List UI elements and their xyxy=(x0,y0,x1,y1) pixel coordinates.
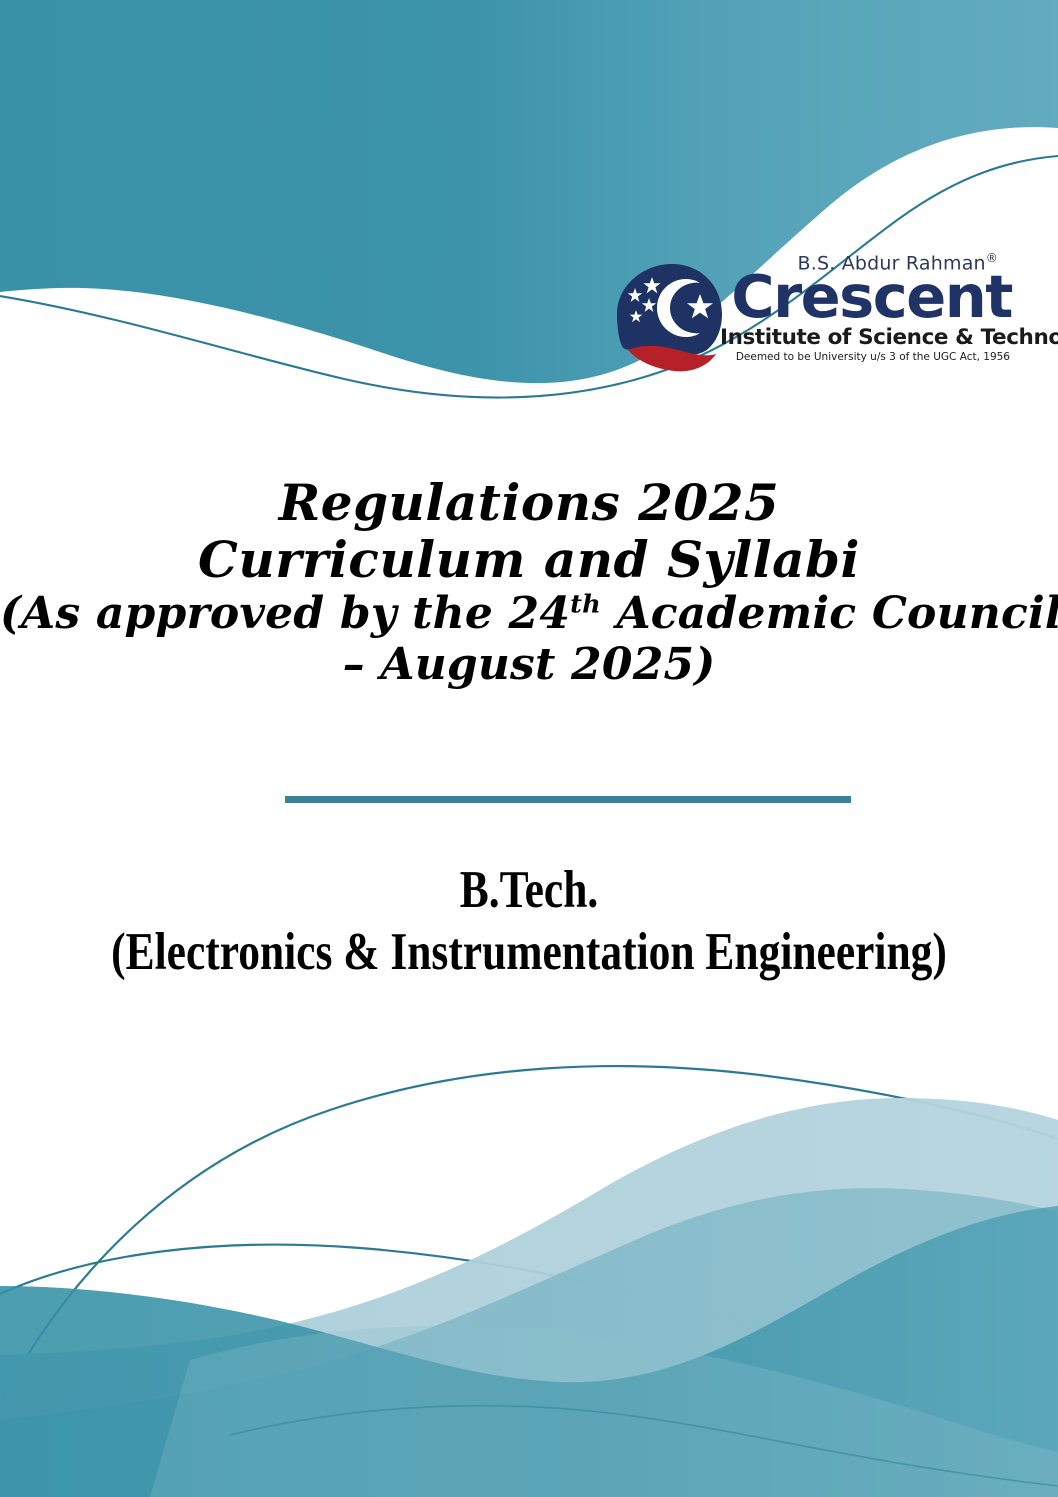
title-line-date: – August 2025) xyxy=(0,643,1058,687)
degree-name: B.Tech. xyxy=(95,862,963,918)
degree-branch: (Electronics & Instrumentation Engineeri… xyxy=(95,924,963,980)
top-wave-decoration xyxy=(0,0,1058,1497)
approval-text-after: Academic Council xyxy=(601,588,1058,639)
bottom-front-hairline xyxy=(230,1406,1058,1486)
bottom-wave-decoration xyxy=(0,0,1058,1497)
brand-accreditation-note: Deemed to be University u/s 3 of the UGC… xyxy=(720,352,1010,364)
approval-text-before: (As approved by the 24 xyxy=(0,588,570,639)
bottom-wave-pale xyxy=(0,1098,1058,1497)
title-line-curriculum: Curriculum and Syllabi xyxy=(0,535,1058,585)
bottom-wave-highlight xyxy=(150,1326,1058,1497)
title-line-regulations: Regulations 2025 xyxy=(0,478,1058,528)
institution-logo: B.S. Abdur Rahman® Crescent Institute of… xyxy=(612,252,1012,382)
section-divider-rule xyxy=(285,796,851,803)
document-title-block: Regulations 2025 Curriculum and Syllabi … xyxy=(0,478,1058,687)
bottom-wave-deep xyxy=(0,1206,1058,1497)
brand-wordmark: Crescent xyxy=(720,269,1012,324)
cover-page: B.S. Abdur Rahman® Crescent Institute of… xyxy=(0,0,1058,1497)
logo-wordmark-group: B.S. Abdur Rahman® Crescent Institute of… xyxy=(720,252,1012,382)
bottom-arc-long xyxy=(0,1066,1058,1403)
crescent-moon-stars-emblem xyxy=(612,258,732,378)
bottom-arc-short xyxy=(0,1245,1058,1372)
brand-subtitle: Institute of Science & Technology xyxy=(720,326,1012,350)
degree-title-block: B.Tech. (Electronics & Instrumentation E… xyxy=(0,862,1058,980)
bottom-wave-mid xyxy=(0,1188,1058,1497)
ordinal-suffix: th xyxy=(570,589,601,619)
title-line-approval: (As approved by the 24th Academic Counci… xyxy=(0,592,1058,636)
